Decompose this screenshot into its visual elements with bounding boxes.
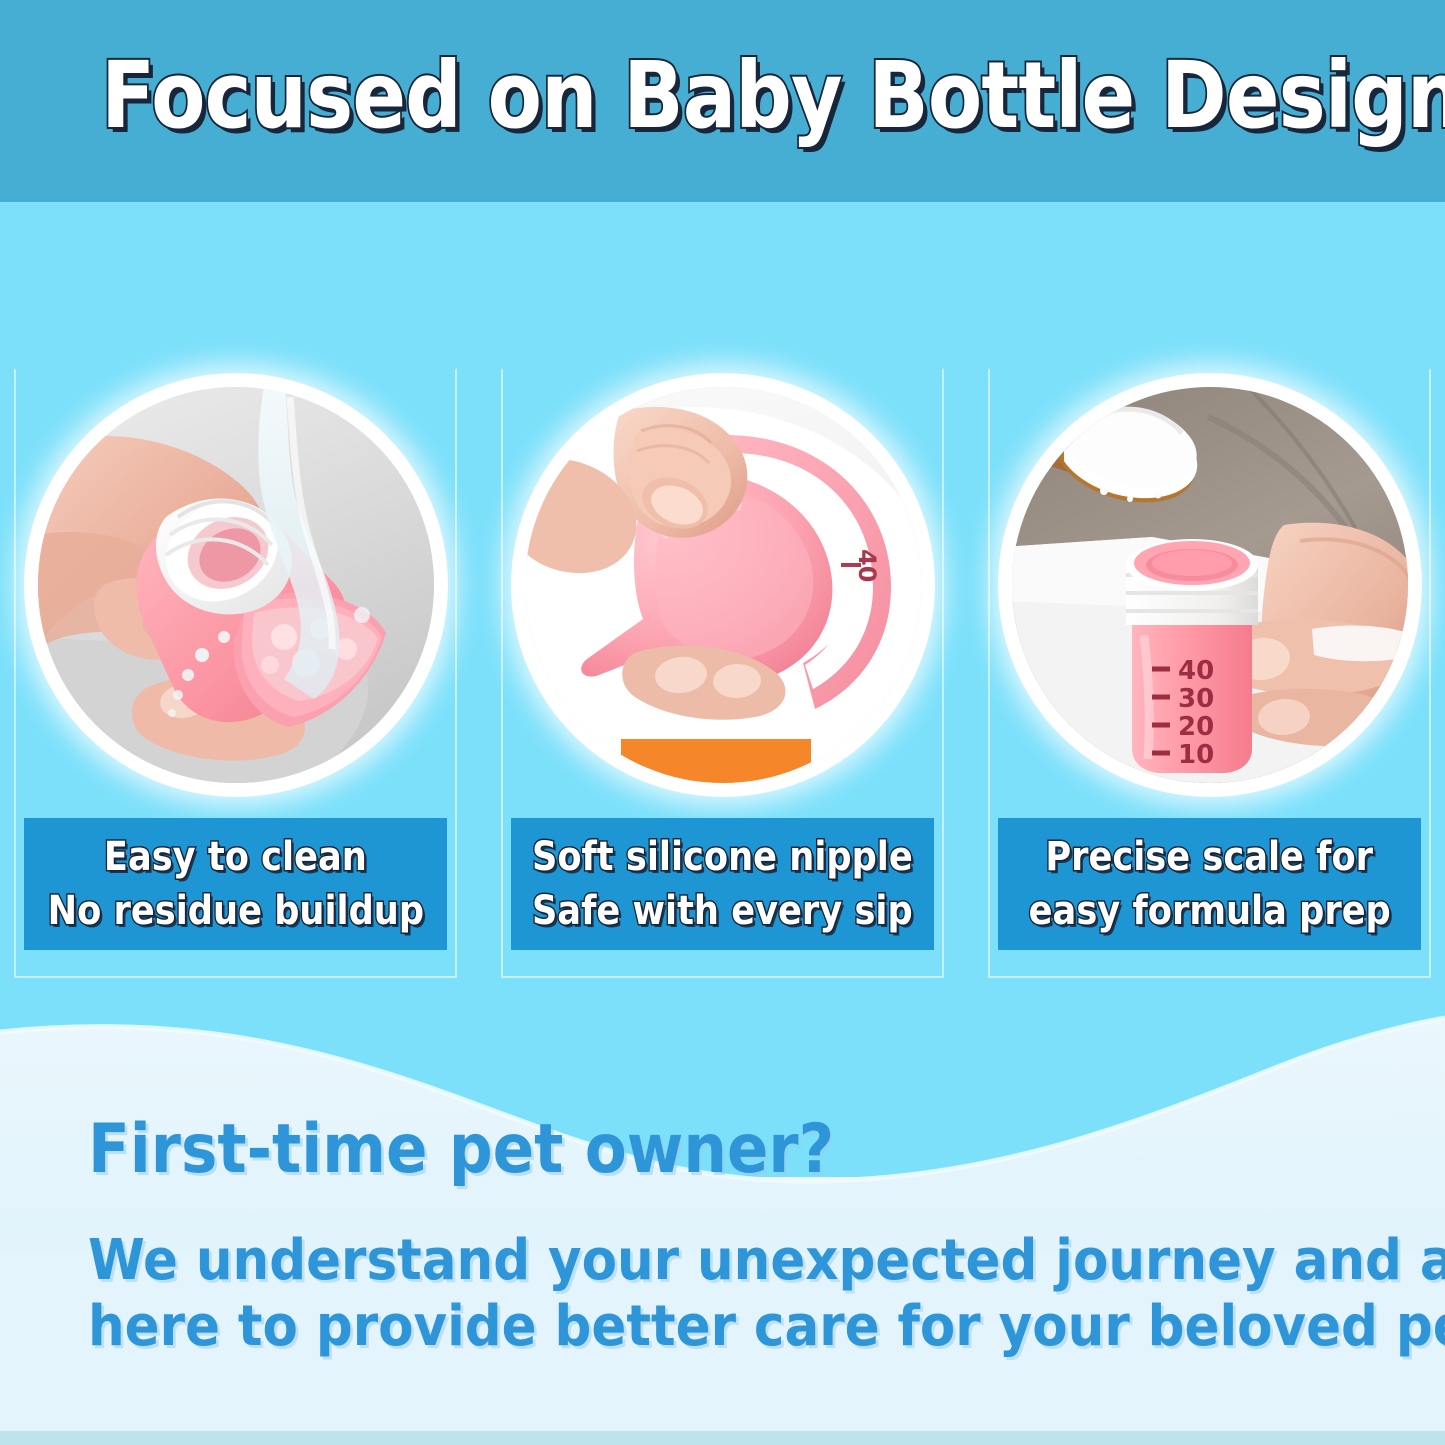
photo-easy-to-clean [38, 387, 434, 783]
feature-panel-easy-to-clean[interactable]: Easy to clean No residue buildup [14, 368, 457, 978]
feature-panel-soft-silicone-nipple[interactable]: 40 [501, 368, 944, 978]
caption-line-2: easy formula prep [1028, 884, 1390, 938]
caption-box-soft-silicone-nipple: Soft silicone nipple Safe with every sip [511, 818, 934, 950]
photo-circle-frame [25, 374, 447, 796]
photo-precise-scale: 40 30 20 10 [1012, 387, 1408, 783]
scale-label-10: 10 [1178, 740, 1214, 770]
title-band: Focused on Baby Bottle Design [0, 0, 1445, 202]
footer-body: We understand your unexpected journey an… [88, 1228, 1336, 1360]
illustration-formula-scoop-and-bottle: 40 30 20 10 [1012, 387, 1408, 783]
caption-line-2: Safe with every sip [532, 884, 913, 938]
caption-line-2: No residue buildup [47, 884, 423, 938]
scale-label-40: 40 [853, 549, 881, 582]
footer-body-line-2: here to provide better care for your bel… [88, 1294, 1336, 1360]
photo-circle-frame: 40 [512, 374, 934, 796]
page-title: Focused on Baby Bottle Design [101, 44, 1344, 148]
caption-box-precise-scale: Precise scale for easy formula prep [998, 818, 1421, 950]
illustration-rinsing-bottle [38, 387, 434, 783]
scale-label-40: 40 [1178, 656, 1214, 686]
caption-box-easy-to-clean: Easy to clean No residue buildup [24, 818, 447, 950]
photo-soft-silicone-nipple: 40 [525, 387, 921, 783]
scale-label-30: 30 [1178, 684, 1214, 714]
caption-line-1: Easy to clean [104, 830, 367, 884]
caption-line-1: Soft silicone nipple [532, 830, 913, 884]
bottom-edge-strip [0, 1431, 1445, 1445]
illustration-squeezing-nipple: 40 [525, 387, 921, 783]
scale-label-20: 20 [1178, 712, 1214, 742]
poster-canvas: Focused on Baby Bottle Design [0, 0, 1445, 1445]
caption-line-1: Precise scale for [1046, 830, 1374, 884]
footer-copy-block: First-time pet owner? We understand your… [0, 1110, 1445, 1360]
footer-body-line-1: We understand your unexpected journey an… [88, 1228, 1336, 1294]
feature-panel-row: Easy to clean No residue buildup [0, 368, 1445, 980]
photo-circle-frame: 40 30 20 10 [999, 374, 1421, 796]
feature-panel-precise-scale[interactable]: 40 30 20 10 Precise scale for easy formu… [988, 368, 1431, 978]
footer-headline: First-time pet owner? [88, 1110, 1309, 1190]
